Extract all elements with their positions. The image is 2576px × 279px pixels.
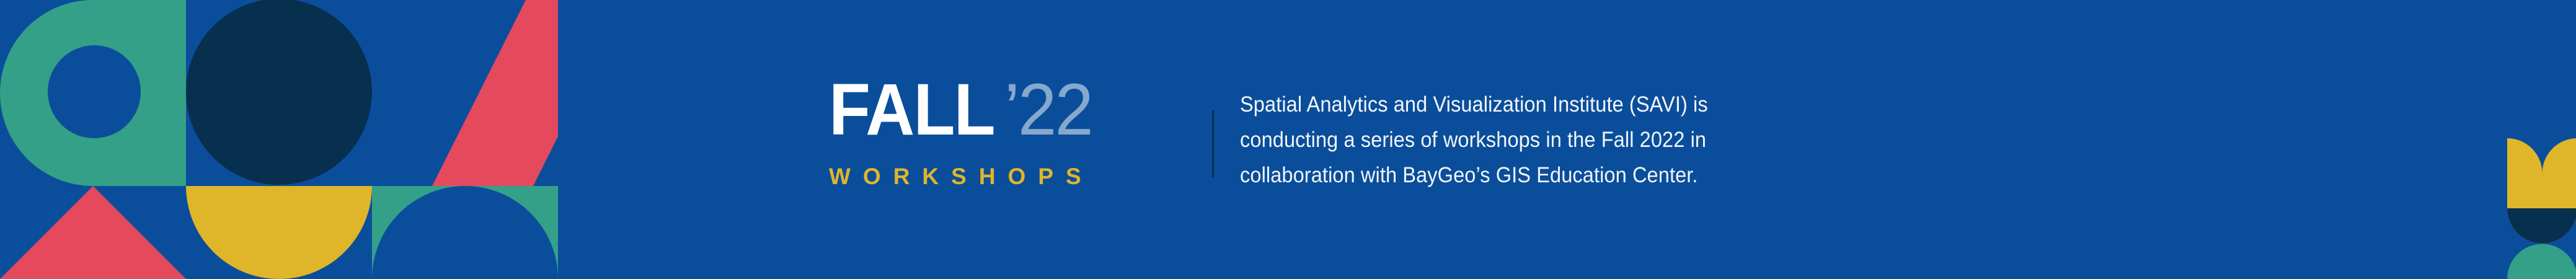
vertical-divider bbox=[1212, 110, 1214, 177]
blue-circle-cutout bbox=[48, 45, 141, 138]
description-line: conducting a series of workshops in the … bbox=[1240, 122, 1914, 157]
fall-22-workshops-banner: FALL ’22 WORKSHOPS Spatial Analytics and… bbox=[0, 0, 2576, 279]
deco-teal-square-cell bbox=[372, 186, 558, 279]
deco-teal-rounded-square-cell bbox=[0, 0, 186, 186]
title-block: FALL ’22 WORKSHOPS bbox=[829, 73, 1201, 213]
left-decorative-pattern bbox=[0, 0, 558, 279]
description-line: collaboration with BayGeo’s GIS Educatio… bbox=[1240, 157, 1914, 193]
title-season-text: FALL bbox=[829, 73, 994, 146]
description-block: Spatial Analytics and Visualization Inst… bbox=[1240, 87, 1965, 193]
description-line: Spatial Analytics and Visualization Inst… bbox=[1240, 87, 1914, 122]
title-year-text: ’22 bbox=[1004, 73, 1092, 146]
right-decorative-pattern bbox=[2505, 0, 2576, 279]
title-main-line: FALL ’22 bbox=[829, 73, 1201, 154]
navy-circle-shape bbox=[186, 0, 372, 185]
title-subtitle-text: WORKSHOPS bbox=[829, 164, 1201, 190]
